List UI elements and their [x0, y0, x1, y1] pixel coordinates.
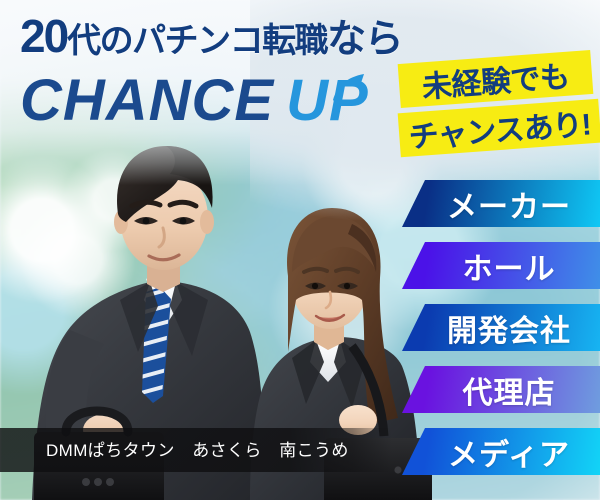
category-banner-maker[interactable]: メーカー [402, 180, 600, 227]
page-title: 20代のパチンコ転職なら [20, 13, 402, 59]
category-label: メディア [448, 430, 570, 474]
category-label: 代理店 [463, 368, 556, 412]
credit-text: DMMぱちタウン あさくら 南こうめ [46, 436, 349, 461]
category-banner-developer[interactable]: 開発会社 [402, 304, 600, 351]
category-banner-media[interactable]: メディア [402, 428, 600, 475]
brand-logo-main: CHANCE [20, 68, 274, 133]
brand-logo-accent: UP [286, 68, 369, 133]
headline-number: 20 [20, 10, 67, 62]
category-label: 開発会社 [447, 306, 571, 350]
headline-tail: なら [327, 18, 402, 61]
headline-middle: 代のパチンコ転職 [67, 22, 327, 60]
brand-logo: CHANCEUP [20, 72, 369, 130]
category-banner-agency[interactable]: 代理店 [402, 366, 600, 413]
category-banner-hall[interactable]: ホール [402, 242, 600, 289]
category-label: ホール [463, 244, 556, 288]
category-label: メーカー [447, 182, 571, 226]
pachinko-recruitment-banner[interactable]: 20代のパチンコ転職なら CHANCEUP 未経験でも チャンスあり! メーカー… [0, 0, 600, 500]
